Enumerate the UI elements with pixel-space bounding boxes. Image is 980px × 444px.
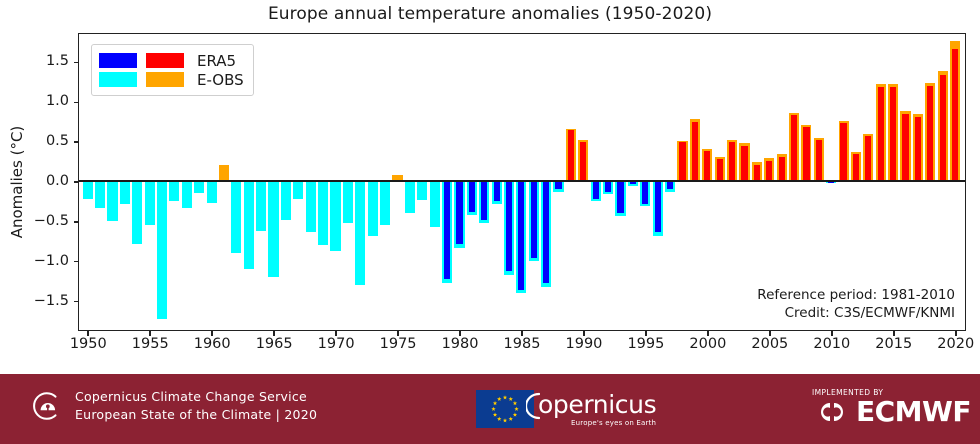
bar-era5-2006 [779, 157, 785, 182]
ecmwf-main-row: ECMWF [812, 398, 971, 426]
bar-era5-1981 [469, 181, 475, 211]
x-tick-mark-1960 [211, 331, 213, 336]
bar-era5-1992 [605, 181, 611, 191]
x-tick-label-1950: 1950 [70, 336, 107, 352]
bar-eobs-1968 [306, 181, 316, 231]
legend-swatch-era5-positive [146, 53, 184, 68]
bar-era5-1995 [642, 181, 648, 203]
eu-star-3 [514, 407, 518, 411]
x-tick-label-1960: 1960 [194, 336, 231, 352]
eu-star-10 [493, 401, 497, 405]
bar-eobs-1974 [380, 181, 390, 225]
bar-era5-1983 [494, 181, 500, 200]
bar-era5-2005 [766, 161, 772, 182]
chart-page: Europe annual temperature anomalies (195… [0, 0, 980, 444]
bar-era5-1985 [518, 181, 524, 289]
bar-era5-1988 [555, 181, 561, 188]
bar-era5-1980 [456, 181, 462, 243]
y-tick-label-3: 0.0 [0, 173, 78, 189]
bar-era5-1991 [593, 181, 599, 199]
bar-eobs-1973 [368, 181, 378, 235]
plot-area: ERA5 E-OBS Reference period: 1981-2010 C… [78, 33, 966, 331]
bar-eobs-1961 [219, 165, 229, 181]
bar-era5-1990 [580, 142, 586, 182]
bar-era5-2009 [816, 140, 822, 181]
x-tick-label-2015: 2015 [875, 336, 912, 352]
y-tick-mark-5 [74, 261, 79, 263]
x-tick-label-2010: 2010 [813, 336, 850, 352]
bar-era5-2015 [890, 87, 896, 182]
bar-era5-2007 [791, 115, 797, 181]
bar-eobs-1967 [293, 181, 303, 199]
x-tick-mark-2005 [769, 331, 771, 336]
x-tick-label-2005: 2005 [751, 336, 788, 352]
bar-eobs-1965 [268, 181, 278, 277]
x-tick-mark-1950 [87, 331, 89, 336]
bar-era5-1982 [481, 181, 487, 219]
bar-era5-1998 [679, 142, 685, 182]
bar-eobs-1969 [318, 181, 328, 245]
eu-star-0 [503, 395, 507, 399]
y-tick-mark-2 [74, 141, 79, 143]
chart-legend: ERA5 E-OBS [91, 44, 254, 96]
bar-eobs-1963 [244, 181, 254, 269]
bar-era5-2002 [729, 142, 735, 182]
x-tick-label-1980: 1980 [442, 336, 479, 352]
bar-era5-1997 [667, 181, 673, 189]
bar-eobs-1978 [430, 181, 440, 226]
legend-swatches-era5 [99, 53, 184, 68]
bar-era5-2017 [915, 117, 921, 182]
bar-era5-1984 [506, 181, 512, 271]
copernicus-word-text: opernicus [538, 392, 656, 417]
bar-eobs-1976 [405, 181, 415, 213]
chart-figure: Europe annual temperature anomalies (195… [0, 0, 980, 370]
bar-eobs-1959 [194, 181, 204, 193]
legend-swatch-era5-negative [99, 53, 137, 68]
x-tick-mark-1995 [645, 331, 647, 336]
x-tick-mark-2015 [893, 331, 895, 336]
bar-era5-2014 [878, 87, 884, 182]
bar-eobs-1966 [281, 181, 291, 219]
legend-swatches-eobs [99, 72, 184, 87]
x-tick-mark-2020 [955, 331, 957, 336]
bar-eobs-1962 [231, 181, 241, 253]
y-tick-label-6: −1.5 [0, 293, 78, 309]
zero-reference-line [79, 180, 965, 182]
eu-star-1 [509, 397, 513, 401]
bar-eobs-1972 [355, 181, 365, 285]
y-tick-label-5: −1.0 [0, 253, 78, 269]
bar-eobs-1970 [330, 181, 340, 250]
bar-era5-1999 [692, 122, 698, 182]
y-tick-mark-1 [74, 102, 79, 104]
bar-eobs-1956 [157, 181, 167, 319]
bar-eobs-1964 [256, 181, 266, 230]
bar-era5-2019 [940, 75, 946, 182]
bar-era5-2003 [741, 146, 747, 182]
bar-era5-2016 [902, 114, 908, 182]
copernicus-wordmark: opernicus Europe's eyes on Earth [538, 392, 656, 427]
x-tick-mark-1975 [397, 331, 399, 336]
x-tick-mark-1980 [459, 331, 461, 336]
eu-star-9 [491, 407, 495, 411]
y-tick-mark-4 [74, 221, 79, 223]
y-tick-label-4: −0.5 [0, 213, 78, 229]
bar-eobs-1955 [145, 181, 155, 225]
x-tick-label-1985: 1985 [504, 336, 541, 352]
x-tick-mark-1965 [273, 331, 275, 336]
bar-era5-1986 [531, 181, 537, 257]
legend-label-eobs: E-OBS [197, 71, 244, 89]
eu-star-6 [503, 418, 507, 422]
bar-era5-1996 [655, 181, 661, 232]
bar-eobs-1960 [207, 181, 217, 203]
footer-report-name: European State of the Climate | 2020 [75, 406, 317, 424]
chart-title: Europe annual temperature anomalies (195… [0, 4, 980, 24]
bar-era5-2012 [853, 154, 859, 182]
ecmwf-word-text: ECMWF [856, 398, 971, 426]
x-tick-label-2000: 2000 [689, 336, 726, 352]
bar-eobs-1977 [417, 181, 427, 199]
bar-eobs-1950 [83, 181, 93, 199]
footer-service-name: Copernicus Climate Change Service [75, 388, 317, 406]
legend-row-eobs: E-OBS [99, 70, 244, 89]
bar-era5-2011 [840, 123, 846, 181]
x-tick-mark-1990 [583, 331, 585, 336]
y-tick-mark-0 [74, 62, 79, 64]
bar-era5-2000 [704, 151, 710, 181]
bar-era5-1989 [568, 130, 574, 182]
x-tick-label-1995: 1995 [627, 336, 664, 352]
y-tick-mark-6 [74, 301, 79, 303]
x-tick-mark-2010 [831, 331, 833, 336]
bar-eobs-1957 [169, 181, 179, 201]
bar-eobs-1971 [343, 181, 353, 222]
bar-era5-1979 [444, 181, 450, 278]
legend-swatch-eobs-negative [99, 72, 137, 87]
bar-era5-2004 [754, 165, 760, 182]
footer-bar: Copernicus Climate Change Service Europe… [0, 374, 980, 444]
bar-era5-2013 [865, 136, 871, 181]
x-tick-mark-1955 [149, 331, 151, 336]
legend-swatch-eobs-positive [146, 72, 184, 87]
y-tick-label-0: 1.5 [0, 53, 78, 69]
eu-star-11 [497, 397, 501, 401]
x-tick-label-1975: 1975 [380, 336, 417, 352]
eu-star-2 [513, 401, 517, 405]
x-tick-label-1955: 1955 [132, 336, 169, 352]
bar-eobs-1958 [182, 181, 192, 207]
footer-c3s-block: Copernicus Climate Change Service Europe… [30, 388, 317, 424]
eu-star-5 [509, 417, 513, 421]
chart-annotation: Reference period: 1981-2010 Credit: C3S/… [757, 286, 955, 322]
annotation-reference-period: Reference period: 1981-2010 [757, 286, 955, 304]
bar-era5-2018 [927, 86, 933, 182]
x-tick-label-1990: 1990 [566, 336, 603, 352]
eu-star-7 [497, 417, 501, 421]
c3s-logo-icon [30, 389, 64, 423]
y-tick-label-1: 1.0 [0, 93, 78, 109]
copernicus-c-icon [526, 391, 540, 421]
bar-eobs-1951 [95, 181, 105, 208]
x-tick-label-1965: 1965 [256, 336, 293, 352]
y-tick-label-2: 0.5 [0, 133, 78, 149]
bar-eobs-1952 [107, 181, 117, 221]
bar-era5-2008 [803, 127, 809, 181]
bar-eobs-1954 [132, 181, 142, 243]
bar-era5-2020 [952, 49, 958, 181]
bar-eobs-1953 [120, 181, 130, 203]
copernicus-tagline: Europe's eyes on Earth [538, 419, 656, 427]
bar-era5-1987 [543, 181, 549, 283]
x-tick-mark-1970 [335, 331, 337, 336]
eu-star-4 [513, 412, 517, 416]
bar-era5-1993 [617, 181, 623, 213]
x-tick-mark-2000 [707, 331, 709, 336]
annotation-credit: Credit: C3S/ECMWF/KNMI [757, 304, 955, 322]
copernicus-logo: opernicus Europe's eyes on Earth [476, 390, 656, 428]
x-tick-label-2020: 2020 [937, 336, 974, 352]
x-tick-label-1970: 1970 [318, 336, 355, 352]
ecmwf-logo: IMPLEMENTED BY ECMWF [812, 388, 971, 426]
bar-era5-2001 [717, 159, 723, 181]
legend-label-era5: ERA5 [197, 52, 236, 70]
footer-c3s-text: Copernicus Climate Change Service Europe… [75, 388, 317, 424]
legend-row-era5: ERA5 [99, 51, 244, 70]
eu-star-8 [493, 412, 497, 416]
x-tick-mark-1985 [521, 331, 523, 336]
ecmwf-symbol-icon [812, 399, 852, 425]
